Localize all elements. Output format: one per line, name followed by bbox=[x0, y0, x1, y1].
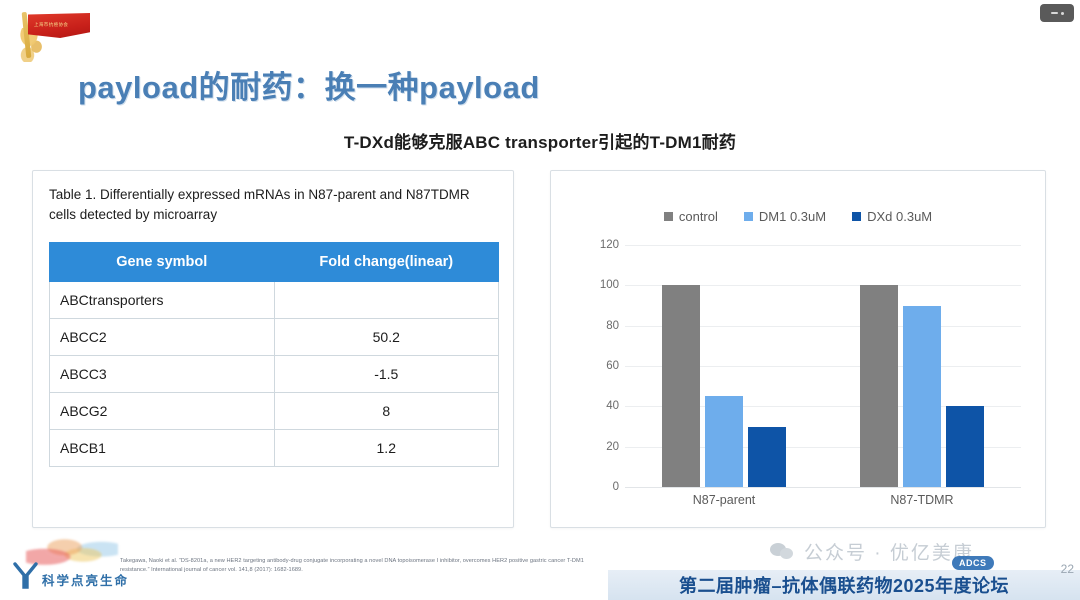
legend-label: DM1 0.3uM bbox=[759, 209, 826, 224]
cell-gene: ABCtransporters bbox=[50, 282, 275, 319]
chart-panel: controlDM1 0.3uMDXd 0.3uM 02040608010012… bbox=[550, 170, 1046, 528]
watermark-text: 公众号 · 优亿美康 bbox=[804, 538, 974, 565]
table-row: ABCG2 8 bbox=[50, 393, 499, 430]
cell-gene: ABCC3 bbox=[50, 356, 275, 393]
page-number: 22 bbox=[1061, 562, 1074, 576]
slide-canvas: 上海市抗癌协会 payload的耐药：换一种payload T-DXd能够克服A… bbox=[0, 0, 1080, 600]
table-row: ABCC3 -1.5 bbox=[50, 356, 499, 393]
legend-item-1: DM1 0.3uM bbox=[744, 209, 826, 224]
gridline bbox=[625, 487, 1021, 488]
legend-label: DXd 0.3uM bbox=[867, 209, 932, 224]
table-row: ABCC2 50.2 bbox=[50, 319, 499, 356]
bar-dm1 bbox=[705, 396, 743, 487]
forum-banner-text: 第二届肿瘤–抗体偶联药物2025年度论坛 bbox=[679, 572, 1009, 598]
cell-gene: ABCC2 bbox=[50, 319, 275, 356]
expand-icon[interactable] bbox=[1040, 4, 1074, 22]
y-tick-label: 100 bbox=[581, 279, 619, 291]
cell-fold bbox=[274, 282, 499, 319]
column-header-fold-change: Fold change(linear) bbox=[274, 243, 499, 282]
cell-fold: -1.5 bbox=[274, 356, 499, 393]
y-tick-label: 60 bbox=[581, 360, 619, 372]
y-glyph-icon bbox=[10, 560, 40, 590]
red-flag-icon: 上海市抗癌协会 bbox=[18, 10, 98, 58]
cell-gene: ABCG2 bbox=[50, 393, 275, 430]
bar-control bbox=[662, 285, 700, 487]
legend-item-2: DXd 0.3uM bbox=[852, 209, 932, 224]
y-axis-labels: 020406080100120 bbox=[581, 245, 619, 487]
x-axis-labels: N87-parentN87-TDMR bbox=[625, 493, 1021, 507]
bar-group bbox=[860, 245, 984, 487]
chart-legend: controlDM1 0.3uMDXd 0.3uM bbox=[551, 209, 1045, 224]
citation-line-1: Takegawa, Naoki et al. “DS-8201a, a new … bbox=[120, 557, 760, 566]
forum-banner: 第二届肿瘤–抗体偶联药物2025年度论坛 bbox=[608, 570, 1080, 600]
bar-control bbox=[860, 285, 898, 487]
bar-dxd bbox=[946, 406, 984, 487]
page-subtitle: T-DXd能够克服ABC transporter引起的T-DM1耐药 bbox=[0, 128, 1080, 153]
x-tick-label: N87-parent bbox=[654, 493, 794, 507]
footer-logo-text: 科学点亮生命 bbox=[42, 570, 129, 589]
table-header-row: Gene symbol Fold change(linear) bbox=[50, 243, 499, 282]
y-tick-label: 0 bbox=[581, 481, 619, 493]
wechat-icon bbox=[770, 542, 796, 562]
legend-item-0: control bbox=[664, 209, 718, 224]
y-tick-label: 80 bbox=[581, 320, 619, 332]
table-row: ABCtransporters bbox=[50, 282, 499, 319]
y-tick-label: 40 bbox=[581, 400, 619, 412]
adcs-badge: ADCS bbox=[952, 556, 994, 570]
table-row: ABCB1 1.2 bbox=[50, 430, 499, 467]
table-caption: Table 1. Differentially expressed mRNAs … bbox=[49, 185, 495, 224]
page-title: payload的耐药：换一种payload bbox=[78, 62, 540, 107]
cell-fold: 50.2 bbox=[274, 319, 499, 356]
gene-table: Gene symbol Fold change(linear) ABCtrans… bbox=[49, 242, 499, 467]
flag-cloth-text: 上海市抗癌协会 bbox=[34, 22, 68, 28]
cell-fold: 1.2 bbox=[274, 430, 499, 467]
table-panel: Table 1. Differentially expressed mRNAs … bbox=[32, 170, 514, 528]
legend-swatch-icon bbox=[664, 212, 673, 221]
x-tick-label: N87-TDMR bbox=[852, 493, 992, 507]
bar-groups bbox=[625, 245, 1021, 487]
legend-swatch-icon bbox=[744, 212, 753, 221]
plot-area bbox=[625, 245, 1021, 487]
legend-label: control bbox=[679, 209, 718, 224]
bar-group bbox=[662, 245, 786, 487]
y-tick-label: 120 bbox=[581, 239, 619, 251]
bar-dxd bbox=[748, 427, 786, 488]
antibody-y-icon: 科学点亮生命 bbox=[4, 534, 122, 596]
legend-swatch-icon bbox=[852, 212, 861, 221]
bar-chart: controlDM1 0.3uMDXd 0.3uM 02040608010012… bbox=[551, 171, 1045, 527]
watermark: 公众号 · 优亿美康 bbox=[770, 538, 974, 565]
cell-fold: 8 bbox=[274, 393, 499, 430]
cell-gene: ABCB1 bbox=[50, 430, 275, 467]
bar-dm1 bbox=[903, 306, 941, 488]
y-tick-label: 20 bbox=[581, 441, 619, 453]
column-header-gene-symbol: Gene symbol bbox=[50, 243, 275, 282]
